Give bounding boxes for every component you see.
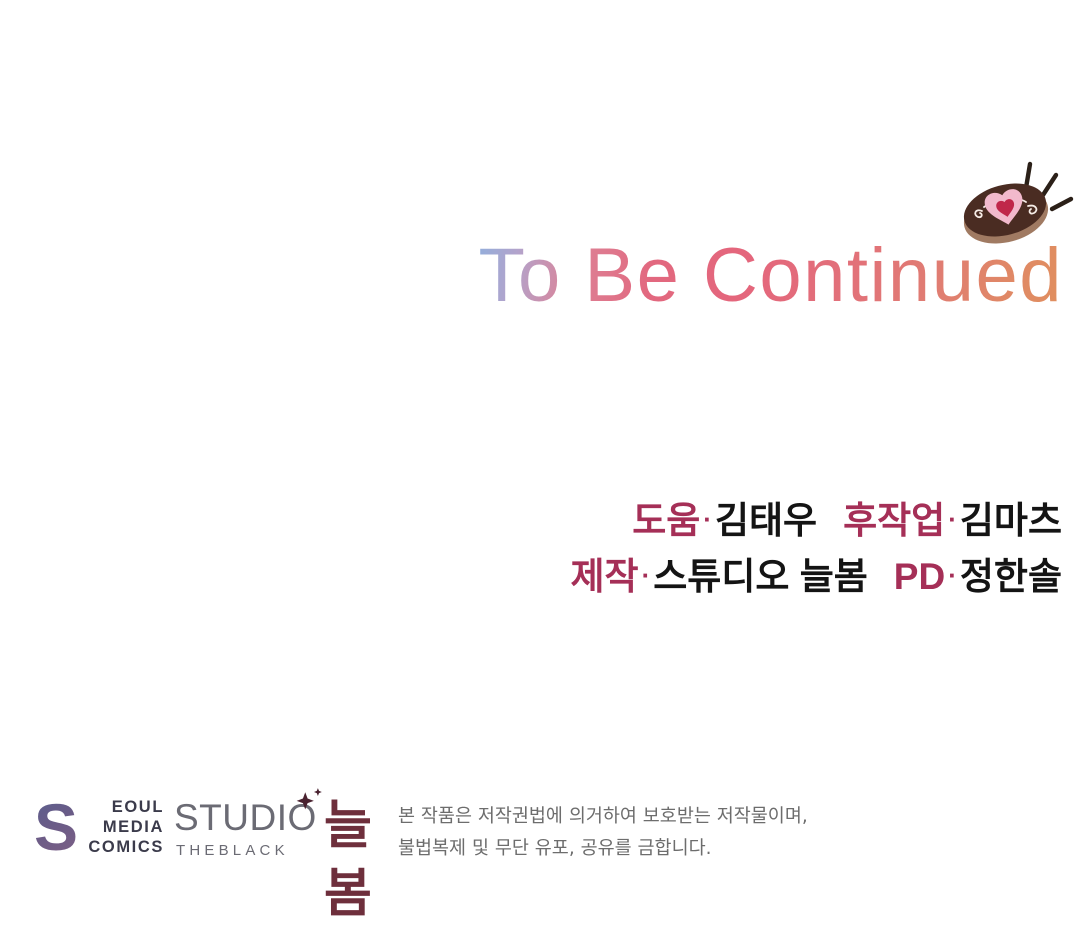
copyright-line-2: 불법복제 및 무단 유포, 공유를 금합니다. bbox=[398, 833, 938, 865]
credit-separator: · bbox=[945, 504, 960, 534]
credit-role: PD bbox=[894, 556, 945, 597]
credit-name: 김태우 bbox=[715, 500, 817, 541]
credit-role: 도움 bbox=[632, 500, 700, 541]
credit-role: 후작업 bbox=[843, 500, 945, 541]
credits-block: 도움·김태우후작업·김마츠 제작·스튜디오 늘봄PD·정한솔 bbox=[0, 492, 1062, 604]
credit-row: 제작·스튜디오 늘봄PD·정한솔 bbox=[0, 548, 1062, 604]
star-sparkle-icon bbox=[292, 786, 326, 816]
smc-line-eoul: EOUL bbox=[68, 797, 164, 817]
theblack-wordmark: THEBLACK bbox=[176, 842, 289, 860]
credit-separator: · bbox=[945, 560, 960, 590]
smc-line-comics: COMICS bbox=[68, 837, 164, 857]
credit-name: 스튜디오 늘봄 bbox=[653, 556, 868, 597]
credit-row: 도움·김태우후작업·김마츠 bbox=[0, 492, 1062, 548]
credit-name: 정한솔 bbox=[960, 556, 1062, 597]
neulbom-wordmark: 늘봄 bbox=[324, 792, 379, 928]
copyright-notice: 본 작품은 저작권법에 의거하여 보호받는 저작물이며, 불법복제 및 무단 유… bbox=[398, 801, 938, 865]
credit-separator: · bbox=[700, 504, 715, 534]
studio-theblack-logo: STUDIO THEBLACK 늘봄 bbox=[174, 786, 379, 870]
copyright-line-1: 본 작품은 저작권법에 의거하여 보호받는 저작물이며, bbox=[398, 801, 938, 833]
to-be-continued-title: To Be Continued bbox=[479, 238, 1063, 314]
credit-separator: · bbox=[639, 560, 654, 590]
title-container: To Be Continued bbox=[0, 238, 1063, 314]
smc-wordmark: EOUL MEDIA COMICS bbox=[68, 797, 164, 857]
smc-line-media: MEDIA bbox=[68, 817, 164, 837]
credit-name: 김마츠 bbox=[960, 500, 1062, 541]
footer: S EOUL MEDIA COMICS STUDIO THEBLACK 늘봄 본… bbox=[34, 782, 1044, 878]
seoul-media-comics-logo: S EOUL MEDIA COMICS bbox=[34, 792, 164, 866]
credit-role: 제작 bbox=[571, 556, 639, 597]
comic-end-card: To Be Continued 도움·김태우후작업·김마츠 제작·스튜디오 늘봄… bbox=[0, 0, 1080, 931]
